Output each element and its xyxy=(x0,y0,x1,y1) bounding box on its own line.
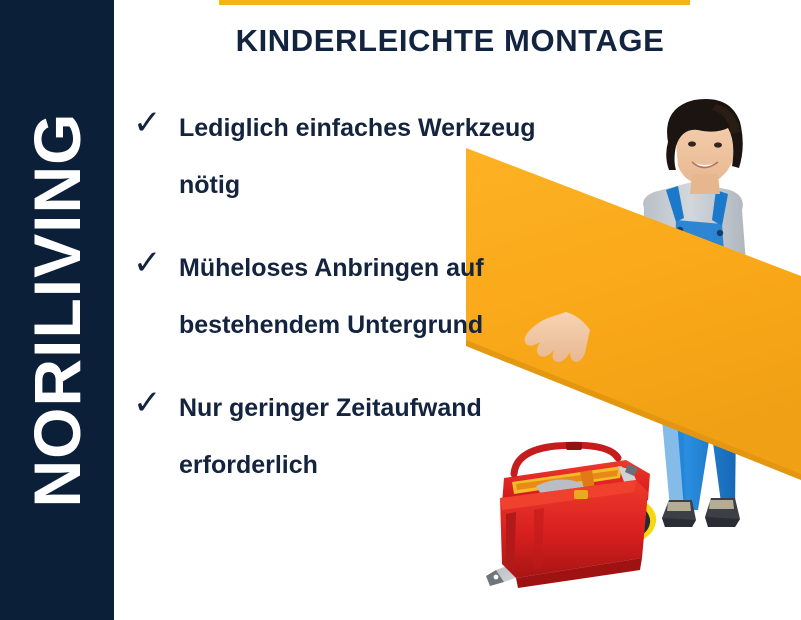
worker-head xyxy=(666,99,743,194)
list-item: ✓ Lediglich einfaches Werkzeug nötig xyxy=(131,100,561,214)
list-item: ✓ Nur geringer Zeitaufwand erforderlich xyxy=(131,380,561,494)
page-title: KINDERLEICHTE MONTAGE xyxy=(130,23,770,59)
check-icon: ✓ xyxy=(133,248,167,282)
check-icon: ✓ xyxy=(133,388,167,422)
brand-name: NORILIVING xyxy=(24,112,90,507)
benefit-text: Nur geringer Zeitaufwand erforderlich xyxy=(179,380,561,494)
brand-rail: NORILIVING xyxy=(0,0,114,620)
benefit-text: Lediglich einfaches Werkzeug nötig xyxy=(179,100,561,214)
accent-bar xyxy=(219,0,690,5)
benefit-list: ✓ Lediglich einfaches Werkzeug nötig ✓ M… xyxy=(131,100,561,520)
check-icon: ✓ xyxy=(133,108,167,142)
promo-poster: NORILIVING KINDERLEICHTE MONTAGE xyxy=(0,0,801,620)
worker-legs xyxy=(652,340,740,527)
worker-torso xyxy=(554,182,748,366)
list-item: ✓ Müheloses Anbringen auf bestehendem Un… xyxy=(131,240,561,354)
benefit-text: Müheloses Anbringen auf bestehendem Unte… xyxy=(179,240,561,354)
